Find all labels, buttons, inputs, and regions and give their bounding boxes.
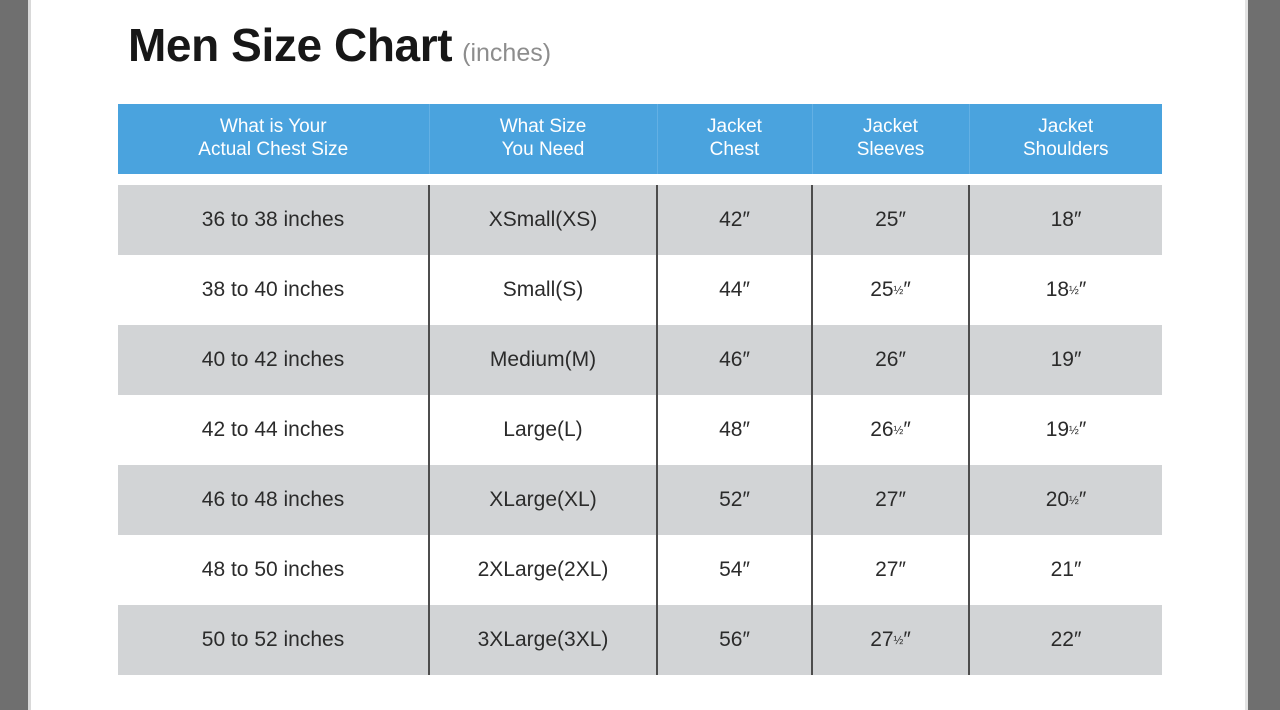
column-header-line-1: Jacket [662, 115, 808, 138]
cell-size-needed: XSmall(XS) [429, 185, 657, 255]
size-chart-table: What is Your Actual Chest Size What Size… [118, 104, 1162, 675]
cell-jacket-chest: 52″ [657, 465, 812, 535]
inch-mark: ″ [903, 628, 910, 651]
cell-size-needed: Medium(M) [429, 325, 657, 395]
left-letterbox-bar [0, 0, 28, 710]
slide-canvas: Men Size Chart (inches) What is Your Act… [31, 0, 1245, 710]
column-header-line-1: Jacket [974, 115, 1159, 138]
cell-chest-range: 42 to 44 inches [118, 395, 429, 465]
cell-jacket-sleeves: 26½″ [812, 395, 969, 465]
cell-jacket-shoulders: 22″ [969, 605, 1162, 675]
cell-jacket-shoulders: 19″ [969, 325, 1162, 395]
cell-size-needed: Large(L) [429, 395, 657, 465]
cell-size-needed: 2XLarge(2XL) [429, 535, 657, 605]
inch-mark: ″ [1079, 488, 1086, 511]
column-header-line-1: Jacket [817, 115, 965, 138]
inch-mark: ″ [903, 418, 910, 441]
cell-chest-range: 36 to 38 inches [118, 185, 429, 255]
table-row: 36 to 38 inches XSmall(XS) 42″ 25″ 18″ [118, 185, 1162, 255]
cell-jacket-shoulders: 20½″ [969, 465, 1162, 535]
cell-chest-range: 46 to 48 inches [118, 465, 429, 535]
page-title-units: (inches) [462, 41, 551, 66]
cell-chest-range: 40 to 42 inches [118, 325, 429, 395]
page-title-main: Men Size Chart [128, 22, 452, 68]
column-header-line-2: Actual Chest Size [122, 138, 425, 161]
column-header-line-1: What Size [434, 115, 653, 138]
cell-chest-range: 38 to 40 inches [118, 255, 429, 325]
cell-jacket-shoulders: 18½″ [969, 255, 1162, 325]
half-fraction-glyph: ½ [894, 284, 904, 297]
table-row: 38 to 40 inches Small(S) 44″ 25½″ 18½″ [118, 255, 1162, 325]
column-header-jacket-shoulders: Jacket Shoulders [969, 104, 1162, 174]
right-letterbox-bar [1248, 0, 1280, 710]
table-row: 40 to 42 inches Medium(M) 46″ 26″ 19″ [118, 325, 1162, 395]
inch-mark: ″ [1079, 278, 1086, 301]
table-row: 42 to 44 inches Large(L) 48″ 26½″ 19½″ [118, 395, 1162, 465]
page-title: Men Size Chart (inches) [128, 22, 551, 68]
cell-jacket-shoulders: 21″ [969, 535, 1162, 605]
table-row: 46 to 48 inches XLarge(XL) 52″ 27″ 20½″ [118, 465, 1162, 535]
cell-jacket-sleeves: 26″ [812, 325, 969, 395]
right-letterbox-seam [1245, 0, 1248, 710]
column-header-size-you-need: What Size You Need [429, 104, 657, 174]
cell-jacket-sleeves: 25½″ [812, 255, 969, 325]
cell-jacket-sleeves: 27″ [812, 535, 969, 605]
cell-chest-range: 48 to 50 inches [118, 535, 429, 605]
cell-jacket-sleeves: 27″ [812, 465, 969, 535]
header-body-gap-cell [118, 174, 1162, 185]
cell-size-needed: Small(S) [429, 255, 657, 325]
half-fraction-glyph: ½ [1069, 284, 1079, 297]
table-header: What is Your Actual Chest Size What Size… [118, 104, 1162, 174]
cell-jacket-sleeves: 25″ [812, 185, 969, 255]
slide-viewer: Men Size Chart (inches) What is Your Act… [0, 0, 1280, 710]
cell-size-needed: XLarge(XL) [429, 465, 657, 535]
cell-jacket-chest: 42″ [657, 185, 812, 255]
column-header-line-2: Sleeves [817, 138, 965, 161]
table-row: 50 to 52 inches 3XLarge(3XL) 56″ 27½″ 22… [118, 605, 1162, 675]
header-body-gap [118, 174, 1162, 185]
half-fraction-glyph: ½ [1069, 424, 1079, 437]
cell-size-needed: 3XLarge(3XL) [429, 605, 657, 675]
column-header-jacket-sleeves: Jacket Sleeves [812, 104, 969, 174]
half-fraction-glyph: ½ [894, 424, 904, 437]
cell-jacket-chest: 44″ [657, 255, 812, 325]
cell-jacket-chest: 46″ [657, 325, 812, 395]
cell-jacket-chest: 54″ [657, 535, 812, 605]
cell-chest-range: 50 to 52 inches [118, 605, 429, 675]
half-fraction-glyph: ½ [894, 634, 904, 647]
inch-mark: ″ [1079, 418, 1086, 441]
table-header-row: What is Your Actual Chest Size What Size… [118, 104, 1162, 174]
column-header-line-2: You Need [434, 138, 653, 161]
column-header-line-2: Shoulders [974, 138, 1159, 161]
cell-jacket-chest: 56″ [657, 605, 812, 675]
column-header-actual-chest-size: What is Your Actual Chest Size [118, 104, 429, 174]
half-fraction-glyph: ½ [1069, 494, 1079, 507]
column-header-line-2: Chest [662, 138, 808, 161]
column-header-line-1: What is Your [122, 115, 425, 138]
cell-jacket-chest: 48″ [657, 395, 812, 465]
column-header-jacket-chest: Jacket Chest [657, 104, 812, 174]
table-body: 36 to 38 inches XSmall(XS) 42″ 25″ 18″ 3… [118, 174, 1162, 675]
cell-jacket-sleeves: 27½″ [812, 605, 969, 675]
table-row: 48 to 50 inches 2XLarge(2XL) 54″ 27″ 21″ [118, 535, 1162, 605]
cell-jacket-shoulders: 18″ [969, 185, 1162, 255]
inch-mark: ″ [903, 278, 910, 301]
cell-jacket-shoulders: 19½″ [969, 395, 1162, 465]
